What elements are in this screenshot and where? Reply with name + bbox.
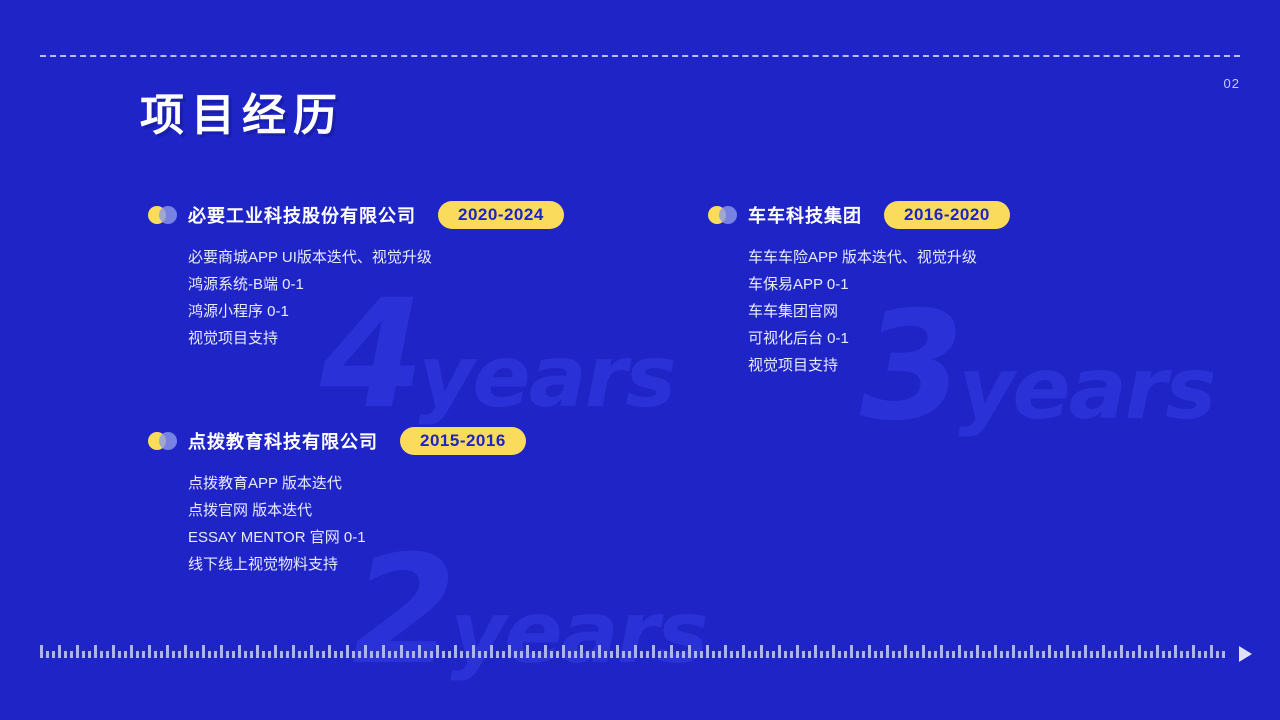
ruler-tick [592,651,595,658]
list-item: 可视化后台 0-1 [748,325,1010,352]
ruler-tick [94,645,97,658]
list-item: 点拨官网 版本迭代 [188,497,526,524]
ruler-tick [1174,645,1177,658]
ruler-tick [1216,651,1219,658]
play-arrow-icon [1239,646,1252,662]
ruler-tick [808,651,811,658]
ruler-tick [436,645,439,658]
ruler-tick [64,651,67,658]
ruler-tick [832,645,835,658]
timeline-ruler-icon [40,640,1230,658]
ruler-tick [952,651,955,658]
ruler-tick [268,651,271,658]
ruler-tick [370,651,373,658]
two-overlapping-circles-icon [148,206,188,224]
ruler-tick [748,651,751,658]
ruler-tick [724,645,727,658]
ruler-tick [910,651,913,658]
ruler-tick [556,651,559,658]
watermark-unit-2: years [450,583,706,683]
ruler-tick [796,645,799,658]
ruler-tick [1000,651,1003,658]
ruler-tick [1078,651,1081,658]
ruler-tick [508,645,511,658]
ruler-tick [886,645,889,658]
period-badge: 2016-2020 [884,201,1010,229]
experience-item-list: 必要商城APP UI版本迭代、视觉升级 鸿源系统-B端 0-1 鸿源小程序 0-… [188,244,564,352]
ruler-tick [166,645,169,658]
ruler-tick [190,651,193,658]
ruler-tick [868,645,871,658]
two-overlapping-circles-icon [148,432,188,450]
ruler-tick [484,651,487,658]
ruler-tick [742,645,745,658]
ruler-tick [826,651,829,658]
ruler-tick [1138,645,1141,658]
ruler-tick [976,645,979,658]
ruler-tick [1126,651,1129,658]
ruler-tick [1198,651,1201,658]
ruler-tick [574,651,577,658]
ruler-tick [1132,651,1135,658]
ruler-tick [526,645,529,658]
ruler-tick [304,651,307,658]
ruler-tick [1204,651,1207,658]
ruler-tick [928,651,931,658]
ruler-tick [874,651,877,658]
ruler-tick [850,645,853,658]
ruler-tick [946,651,949,658]
ruler-tick [1012,645,1015,658]
ruler-tick [1180,651,1183,658]
ruler-tick [1090,651,1093,658]
ruler-tick [172,651,175,658]
ruler-tick [136,651,139,658]
ruler-tick [358,651,361,658]
ruler-tick [232,651,235,658]
ruler-tick [964,651,967,658]
ruler-tick [1102,645,1105,658]
ruler-tick [802,651,805,658]
ruler-tick [286,651,289,658]
ruler-tick [340,651,343,658]
ruler-tick [220,645,223,658]
ruler-tick [466,651,469,658]
ruler-tick [766,651,769,658]
ruler-tick [352,651,355,658]
list-item: ESSAY MENTOR 官网 0-1 [188,524,526,551]
ruler-tick [658,651,661,658]
ruler-tick [1192,645,1195,658]
ruler-tick [646,651,649,658]
ruler-tick [346,645,349,658]
ruler-tick [1114,651,1117,658]
ruler-tick [184,645,187,658]
ruler-tick [736,651,739,658]
ruler-tick [88,651,91,658]
ruler-tick [274,645,277,658]
ruler-tick [772,651,775,658]
ruler-tick [310,645,313,658]
ruler-tick [1222,651,1225,658]
ruler-tick [1084,645,1087,658]
ruler-tick [1036,651,1039,658]
ruler-tick [988,651,991,658]
ruler-tick [478,651,481,658]
ruler-tick [628,651,631,658]
ruler-tick [244,651,247,658]
ruler-tick [700,651,703,658]
ruler-tick [550,651,553,658]
list-item: 点拨教育APP 版本迭代 [188,470,526,497]
ruler-tick [676,651,679,658]
ruler-tick [682,651,685,658]
ruler-tick [298,651,301,658]
ruler-tick [424,651,427,658]
list-item: 鸿源系统-B端 0-1 [188,271,564,298]
ruler-tick [934,651,937,658]
ruler-tick [316,651,319,658]
ruler-tick [214,651,217,658]
ruler-tick [844,651,847,658]
ruler-tick [1150,651,1153,658]
company-name: 点拨教育科技有限公司 [188,428,378,454]
ruler-tick [898,651,901,658]
page-number: 02 [1224,76,1240,91]
ruler-tick [388,651,391,658]
ruler-tick [538,651,541,658]
ruler-tick [490,645,493,658]
ruler-tick [262,651,265,658]
ruler-tick [718,651,721,658]
ruler-tick [604,651,607,658]
ruler-tick [706,645,709,658]
ruler-tick [634,645,637,658]
ruler-tick [712,651,715,658]
ruler-tick [1048,645,1051,658]
ruler-tick [70,651,73,658]
ruler-tick [112,645,115,658]
ruler-tick [496,651,499,658]
ruler-tick [922,645,925,658]
ruler-tick [754,651,757,658]
ruler-tick [640,651,643,658]
ruler-tick [328,645,331,658]
ruler-tick [40,645,43,658]
ruler-tick [880,651,883,658]
list-item: 车保易APP 0-1 [748,271,1010,298]
ruler-tick [688,645,691,658]
ruler-tick [1030,645,1033,658]
ruler-tick [1120,645,1123,658]
ruler-tick [994,645,997,658]
ruler-tick [460,651,463,658]
ruler-tick [382,645,385,658]
ruler-tick [46,651,49,658]
two-overlapping-circles-icon [708,206,748,224]
ruler-tick [1042,651,1045,658]
list-item: 必要商城APP UI版本迭代、视觉升级 [188,244,564,271]
ruler-tick [1162,651,1165,658]
ruler-tick [982,651,985,658]
ruler-tick [1018,651,1021,658]
ruler-tick [196,651,199,658]
ruler-tick [292,645,295,658]
ruler-tick [1072,651,1075,658]
ruler-tick [598,645,601,658]
ruler-tick [1066,645,1069,658]
experience-header: 车车科技集团 2016-2020 [708,200,1010,230]
ruler-tick [202,645,205,658]
ruler-tick [100,651,103,658]
ruler-tick [178,651,181,658]
ruler-tick [160,651,163,658]
ruler-tick [670,645,673,658]
ruler-tick [892,651,895,658]
list-item: 视觉项目支持 [748,352,1010,379]
ruler-tick [76,645,79,658]
ruler-tick [838,651,841,658]
ruler-tick [694,651,697,658]
ruler-tick [208,651,211,658]
experience-header: 必要工业科技股份有限公司 2020-2024 [148,200,564,230]
ruler-tick [652,645,655,658]
ruler-tick [940,645,943,658]
ruler-tick [730,651,733,658]
list-item: 车车车险APP 版本迭代、视觉升级 [748,244,1010,271]
ruler-tick [1156,645,1159,658]
list-item: 线下线上视觉物料支持 [188,551,526,578]
ruler-tick [226,651,229,658]
ruler-tick [532,651,535,658]
ruler-tick [814,645,817,658]
ruler-tick [1144,651,1147,658]
experience-entry: 点拨教育科技有限公司 2015-2016 点拨教育APP 版本迭代 点拨官网 版… [148,426,526,578]
ruler-tick [130,645,133,658]
ruler-tick [580,645,583,658]
ruler-tick [562,645,565,658]
ruler-tick [1060,651,1063,658]
ruler-tick [622,651,625,658]
ruler-tick [118,651,121,658]
experience-entry: 车车科技集团 2016-2020 车车车险APP 版本迭代、视觉升级 车保易AP… [708,200,1010,379]
ruler-tick [904,645,907,658]
list-item: 视觉项目支持 [188,325,564,352]
ruler-tick [430,651,433,658]
ruler-tick [256,645,259,658]
list-item: 车车集团官网 [748,298,1010,325]
ruler-tick [250,651,253,658]
ruler-tick [448,651,451,658]
ruler-tick [568,651,571,658]
ruler-tick [280,651,283,658]
ruler-tick [862,651,865,658]
experience-header: 点拨教育科技有限公司 2015-2016 [148,426,526,456]
ruler-tick [442,651,445,658]
ruler-tick [1006,651,1009,658]
experience-item-list: 车车车险APP 版本迭代、视觉升级 车保易APP 0-1 车车集团官网 可视化后… [748,244,1010,379]
ruler-tick [376,651,379,658]
ruler-tick [406,651,409,658]
ruler-tick [502,651,505,658]
ruler-tick [520,651,523,658]
list-item: 鸿源小程序 0-1 [188,298,564,325]
ruler-tick [82,651,85,658]
ruler-tick [412,651,415,658]
ruler-tick [124,651,127,658]
ruler-tick [1108,651,1111,658]
ruler-tick [52,651,55,658]
ruler-tick [454,645,457,658]
ruler-tick [394,651,397,658]
ruler-tick [790,651,793,658]
ruler-tick [514,651,517,658]
period-badge: 2020-2024 [438,201,564,229]
ruler-tick [58,645,61,658]
ruler-tick [154,651,157,658]
ruler-tick [1210,645,1213,658]
ruler-tick [400,645,403,658]
ruler-tick [778,645,781,658]
ruler-tick [1096,651,1099,658]
ruler-tick [820,651,823,658]
company-name: 必要工业科技股份有限公司 [188,202,416,228]
ruler-tick [472,645,475,658]
ruler-tick [1024,651,1027,658]
ruler-tick [1054,651,1057,658]
ruler-tick [916,651,919,658]
page-title: 项目经历 [140,92,344,140]
ruler-tick [610,651,613,658]
ruler-tick [364,645,367,658]
ruler-tick [784,651,787,658]
ruler-tick [418,645,421,658]
ruler-tick [1168,651,1171,658]
ruler-tick [142,651,145,658]
ruler-tick [544,645,547,658]
ruler-tick [106,651,109,658]
period-badge: 2015-2016 [400,427,526,455]
ruler-tick [148,645,151,658]
experience-entry: 必要工业科技股份有限公司 2020-2024 必要商城APP UI版本迭代、视觉… [148,200,564,352]
ruler-tick [958,645,961,658]
ruler-tick [856,651,859,658]
experience-item-list: 点拨教育APP 版本迭代 点拨官网 版本迭代 ESSAY MENTOR 官网 0… [188,470,526,578]
ruler-tick [760,645,763,658]
ruler-tick [334,651,337,658]
dashed-divider [40,55,1240,57]
ruler-tick [664,651,667,658]
ruler-tick [970,651,973,658]
ruler-tick [616,645,619,658]
ruler-tick [238,645,241,658]
company-name: 车车科技集团 [748,202,862,228]
ruler-tick [1186,651,1189,658]
ruler-tick [322,651,325,658]
ruler-tick [586,651,589,658]
